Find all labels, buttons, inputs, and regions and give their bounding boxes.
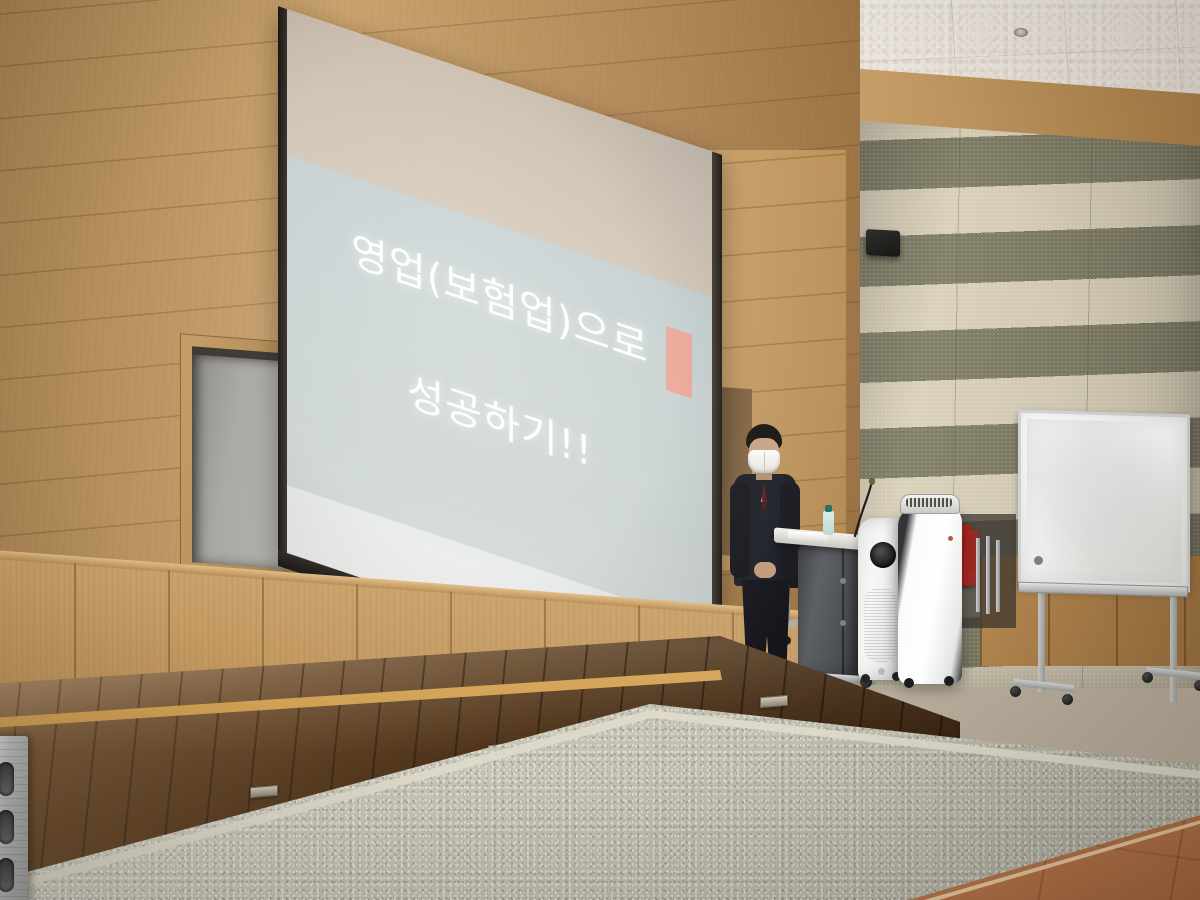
chair-leg	[996, 540, 1000, 612]
presenter-hands	[754, 562, 776, 578]
radiator-slot	[0, 858, 14, 892]
chair-leg	[986, 536, 990, 614]
air-conditioner-caster	[904, 678, 914, 688]
lectern-latch	[840, 620, 846, 626]
air-conditioner-caster	[944, 676, 954, 686]
air-conditioner-grille	[906, 498, 952, 507]
lecture-hall-photo: 영업(보험업)으로 성공하기!!	[0, 0, 1200, 900]
air-purifier-indicator	[878, 668, 885, 675]
air-purifier-mesh	[864, 588, 898, 662]
wall-speaker	[866, 229, 900, 257]
screen-left-edge	[278, 6, 287, 569]
whiteboard-smudges	[1027, 419, 1181, 583]
whiteboard-caster	[1062, 694, 1073, 705]
bottle-cap	[825, 505, 832, 512]
lectern-body	[798, 544, 864, 678]
air-conditioner-indicator	[948, 536, 953, 541]
presenter-arm	[730, 482, 750, 578]
whiteboard-surface[interactable]	[1018, 410, 1190, 593]
ceiling-spotlight	[1014, 28, 1028, 37]
lectern-seam	[842, 546, 844, 676]
portable-air-conditioner[interactable]	[898, 506, 962, 684]
water-bottle[interactable]	[823, 511, 834, 535]
air-purifier-caster	[861, 674, 870, 683]
chair-leg	[976, 538, 980, 612]
whiteboard-pivot-knob[interactable]	[1034, 556, 1043, 565]
whiteboard-caster	[1194, 680, 1200, 691]
whiteboard-caster	[1142, 672, 1153, 683]
lectern-latch	[840, 578, 846, 584]
face-mask	[748, 450, 780, 473]
radiator-slot	[0, 762, 14, 796]
radiator	[0, 736, 28, 900]
radiator-slot	[0, 810, 14, 844]
air-purifier-vent	[870, 542, 896, 568]
mobile-whiteboard[interactable]	[1010, 404, 1186, 704]
whiteboard-caster	[1010, 686, 1021, 697]
